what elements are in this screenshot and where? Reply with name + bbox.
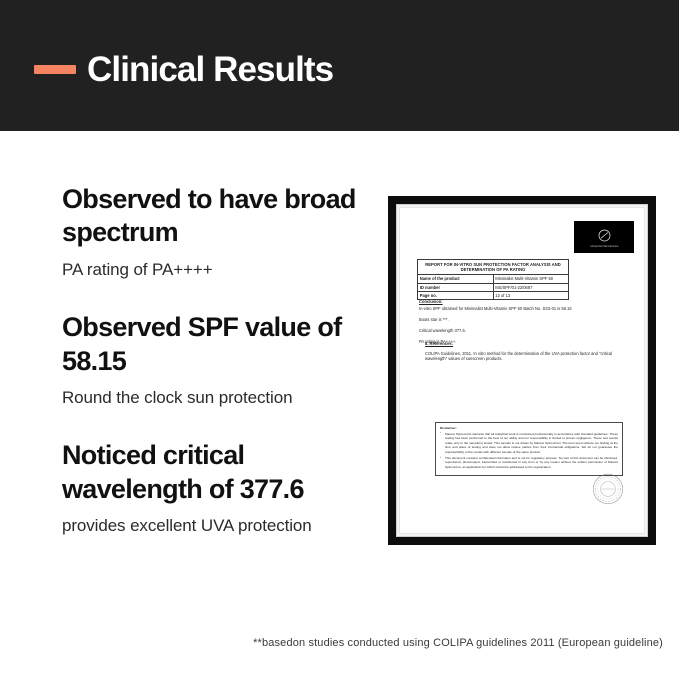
claim-subtext: PA rating of PA++++ — [62, 259, 382, 281]
disclaimer-list: Mascot Spincontrol warrants that all ana… — [440, 432, 618, 469]
claim-subtext: provides excellent UVA protection — [62, 515, 382, 537]
page-title: Clinical Results — [87, 52, 333, 87]
table-cell-label: ID number — [418, 283, 494, 291]
table-cell-value: MS/SPF/01-22/0687 — [493, 283, 569, 291]
claim-subtext: Round the clock sun protection — [62, 387, 382, 409]
lab-report-mat: analytical laboratories REPORT FOR IN-VI… — [396, 204, 648, 537]
clinical-results-page: Clinical Results Observed to have broad … — [0, 0, 679, 679]
table-cell-value: Minimalist Multi-Vitamin SPF 50 — [493, 275, 569, 283]
conclusion-line: Critical wavelength 377.6. — [419, 328, 619, 334]
page-header: Clinical Results — [0, 0, 679, 131]
claim-block: Noticed critical wavelength of 377.6 pro… — [62, 439, 382, 537]
references-body: COLIPA Guidelines, 2011. In vitro method… — [425, 351, 623, 362]
report-table-title: REPORT FOR IN-VITRO SUN PROTECTION FACTO… — [418, 260, 569, 275]
lab-logo: analytical laboratories — [574, 221, 634, 253]
report-references: 8. References: COLIPA Guidelines, 2011. … — [425, 341, 630, 362]
accent-bar-icon — [34, 65, 76, 74]
report-info-table: REPORT FOR IN-VITRO SUN PROTECTION FACTO… — [417, 259, 569, 300]
list-item: This document contains confidential info… — [440, 456, 618, 469]
conclusion-line: Boots star is ***. — [419, 317, 619, 323]
circular-stamp-seal-icon — [591, 472, 625, 506]
lab-report-frame: analytical laboratories REPORT FOR IN-VI… — [388, 196, 656, 545]
references-heading: 8. References: — [425, 341, 630, 347]
table-row: Name of the product Minimalist Multi-Vit… — [418, 275, 569, 283]
claim-heading: Observed SPF value of 58.15 — [62, 311, 382, 378]
table-row: ID number MS/SPF/01-22/0687 — [418, 283, 569, 291]
conclusion-heading: Conclusion: — [419, 299, 619, 305]
claim-heading: Noticed critical wavelength of 377.6 — [62, 439, 382, 506]
circle-slash-icon — [596, 227, 613, 244]
disclaimer-heading: Disclaimer: — [440, 426, 618, 430]
claims-list: Observed to have broad spectrum PA ratin… — [62, 183, 382, 537]
footer-note: **basedon studies conducted using COLIPA… — [0, 637, 679, 649]
conclusion-line: In-vitro SPF obtained for Minimalist Mul… — [419, 306, 619, 312]
table-row: REPORT FOR IN-VITRO SUN PROTECTION FACTO… — [418, 260, 569, 275]
report-disclaimer: Disclaimer: Mascot Spincontrol warrants … — [435, 422, 623, 476]
claim-heading: Observed to have broad spectrum — [62, 183, 382, 250]
claim-block: Observed SPF value of 58.15 Round the cl… — [62, 311, 382, 409]
lab-logo-caption: analytical laboratories — [590, 245, 618, 247]
claim-block: Observed to have broad spectrum PA ratin… — [62, 183, 382, 281]
table-cell-label: Name of the product — [418, 275, 494, 283]
header-inner: Clinical Results — [34, 52, 333, 87]
lab-report-page: analytical laboratories REPORT FOR IN-VI… — [399, 207, 645, 534]
list-item: Mascot Spincontrol warrants that all ana… — [440, 432, 618, 454]
